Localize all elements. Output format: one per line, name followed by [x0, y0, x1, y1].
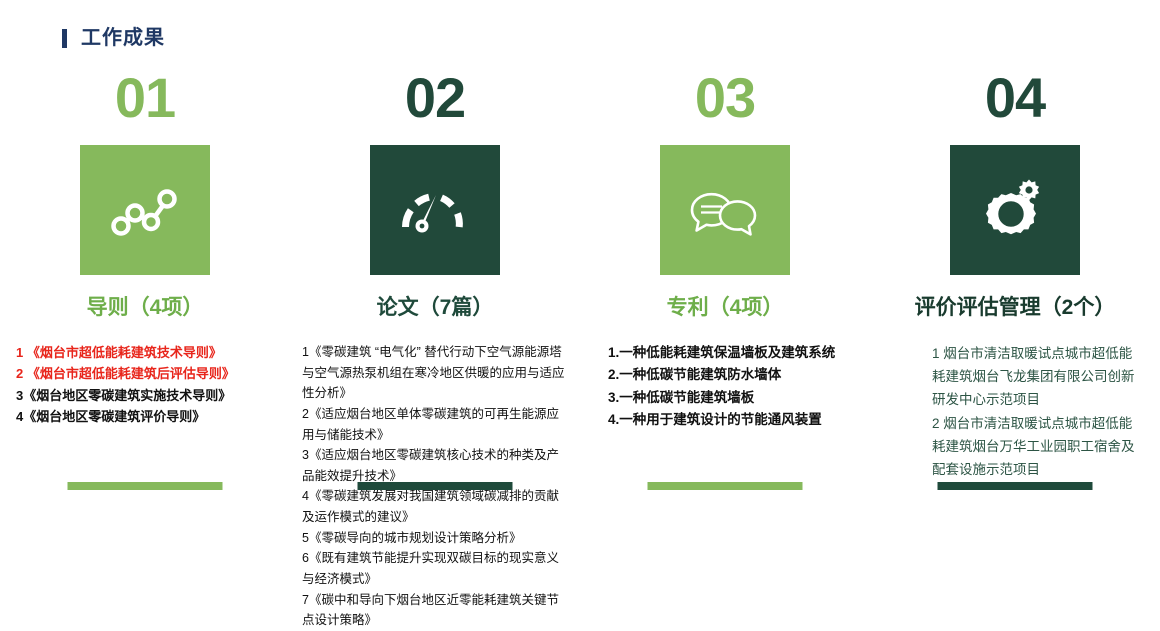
list-item: 2.一种低碳节能建筑防水墙体: [608, 364, 870, 386]
list-item: 6《既有建筑节能提升实现双碳目标的现实意义与经济模式》: [302, 548, 568, 589]
card-number-2: 02: [290, 70, 580, 126]
card-heading-4: 评价评估管理（2个）: [870, 295, 1160, 320]
card-list-3: 1.一种低能耗建筑保温墙板及建筑系统 2.一种低碳节能建筑防水墙体 3.一种低碳…: [580, 342, 870, 431]
list-item: 4《零碳建筑发展对我国建筑领域碳减排的贡献及运作模式的建议》: [302, 486, 568, 527]
card-list-4: 1 烟台市清洁取暖试点城市超低能耗建筑烟台飞龙集团有限公司创新研发中心示范项目 …: [870, 342, 1160, 481]
card-heading-2: 论文（7篇）: [290, 295, 580, 320]
list-item: 2 《烟台市超低能耗建筑后评估导则》: [16, 363, 290, 384]
list-item: 1.一种低能耗建筑保温墙板及建筑系统: [608, 342, 870, 364]
result-card-2[interactable]: 02 论文（7篇） 1《零碳建筑 “电气化” 替代行动下空气源能源塔与空气源热泵…: [290, 70, 580, 530]
list-item: 2《适应烟台地区单体零碳建筑的可再生能源应用与储能技术》: [302, 404, 568, 445]
result-card-3[interactable]: 03 专利（4项） 1.一种低能耗建筑保温墙板及建筑系统 2.一种低碳节能建筑防…: [580, 70, 870, 530]
card-list-1: 1 《烟台市超低能耗建筑技术导则》 2 《烟台市超低能耗建筑后评估导则》 3《烟…: [0, 342, 290, 428]
list-item: 4.一种用于建筑设计的节能通风装置: [608, 409, 870, 431]
list-item: 1 《烟台市超低能耗建筑技术导则》: [16, 342, 290, 363]
list-item: 1 烟台市清洁取暖试点城市超低能耗建筑烟台飞龙集团有限公司创新研发中心示范项目: [932, 342, 1142, 412]
list-item: 3.一种低碳节能建筑墙板: [608, 387, 870, 409]
list-item: 1《零碳建筑 “电气化” 替代行动下空气源能源塔与空气源热泵机组在寒冷地区供暖的…: [302, 342, 568, 404]
speech-bubbles-icon: [660, 145, 790, 275]
card-bottom-bar-1: [68, 482, 223, 490]
card-bottom-bar-4: [938, 482, 1093, 490]
card-bottom-bar-3: [648, 482, 803, 490]
title-accent-bar: [62, 29, 67, 48]
list-item: 3《适应烟台地区零碳建筑核心技术的种类及产品能效提升技术》: [302, 445, 568, 486]
card-number-1: 01: [0, 70, 290, 126]
list-item: 2 烟台市清洁取暖试点城市超低能耗建筑烟台万华工业园职工宿舍及配套设施示范项目: [932, 412, 1142, 482]
page-title-text: 工作成果: [81, 28, 165, 48]
page-title: 工作成果: [62, 28, 165, 48]
card-heading-3: 专利（4项）: [580, 295, 870, 320]
list-item: 7《碳中和导向下烟台地区近零能耗建筑关键节点设计策略》: [302, 590, 568, 631]
card-number-4: 04: [870, 70, 1160, 126]
card-bottom-bar-2: [358, 482, 513, 490]
gears-icon: [950, 145, 1080, 275]
card-heading-1: 导则（4项）: [0, 295, 290, 320]
result-card-4[interactable]: 04 评价评估管理（2个）: [870, 70, 1160, 530]
result-card-1[interactable]: 01 导则（4项） 1 《烟台市超低能耗建筑技术导则》 2 《烟台市超低能耗建筑…: [0, 70, 290, 530]
card-number-3: 03: [580, 70, 870, 126]
results-card-row: 01 导则（4项） 1 《烟台市超低能耗建筑技术导则》 2 《烟台市超低能耗建筑…: [0, 70, 1160, 530]
list-item: 3《烟台地区零碳建筑实施技术导则》: [16, 385, 290, 406]
list-item: 5《零碳导向的城市规划设计策略分析》: [302, 528, 568, 549]
gauge-icon: [370, 145, 500, 275]
list-item: 4《烟台地区零碳建筑评价导则》: [16, 406, 290, 427]
line-chart-nodes-icon: [80, 145, 210, 275]
